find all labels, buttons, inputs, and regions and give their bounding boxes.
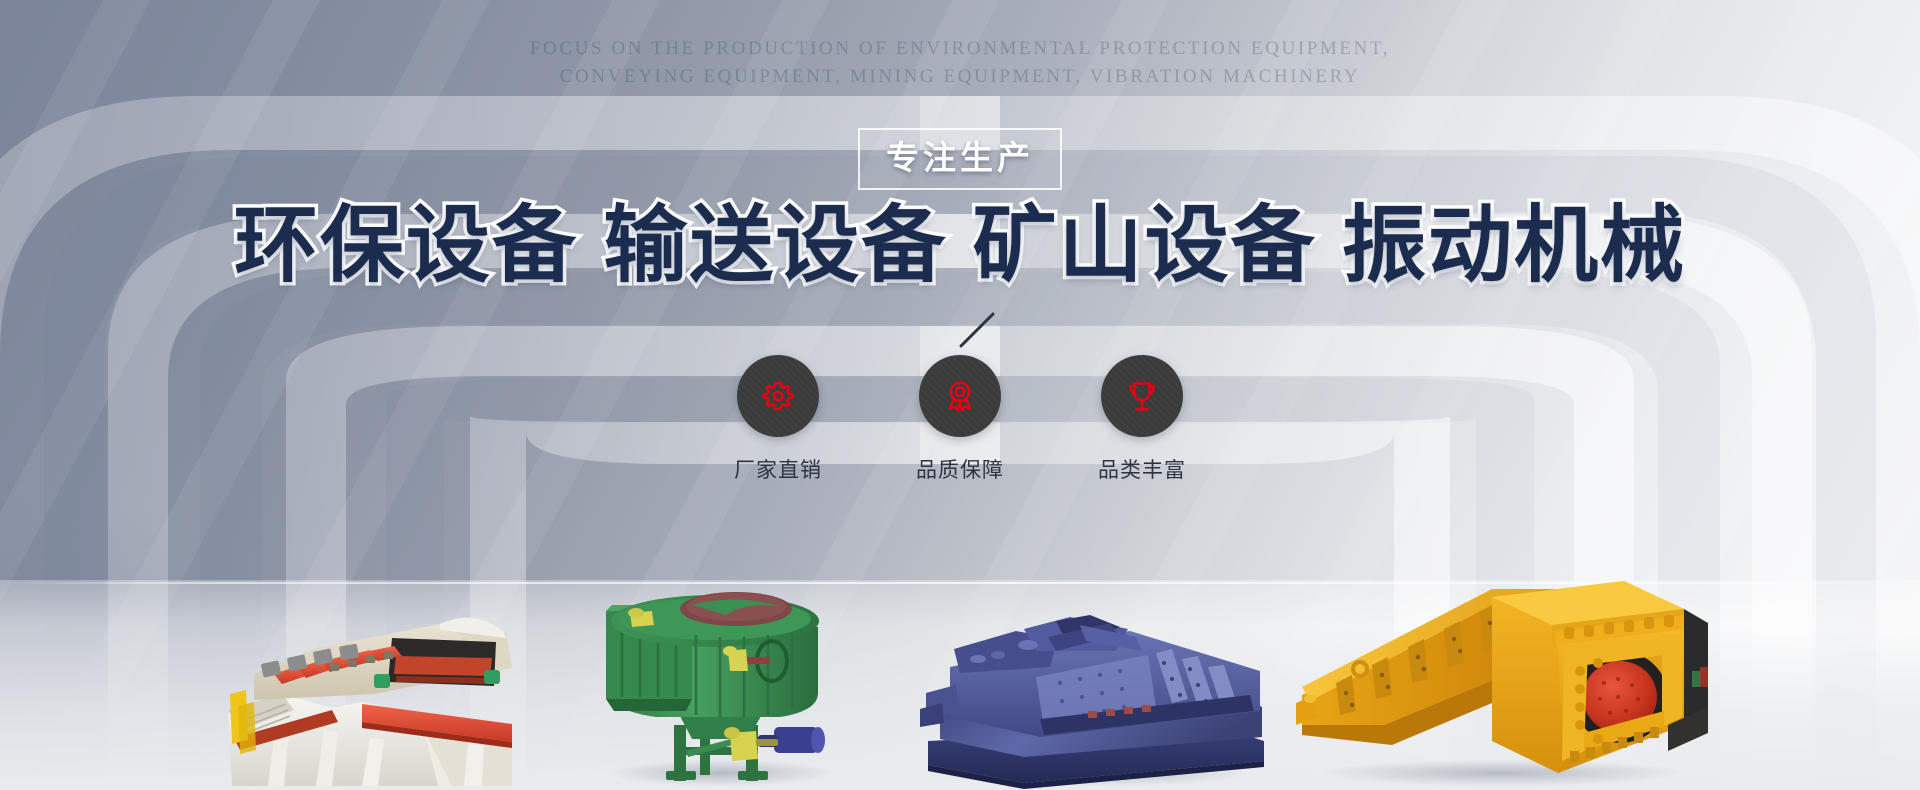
feature-icon-circle: [1101, 355, 1183, 437]
machine-blue-vibrating-screen: [920, 615, 1270, 790]
hero-banner: FOCUS ON THE PRODUCTION OF ENVIRONMENTAL…: [0, 0, 1920, 790]
eyebrow-text: FOCUS ON THE PRODUCTION OF ENVIRONMENTAL…: [0, 35, 1920, 91]
slash-decoration-icon: [955, 308, 999, 352]
machine-yellow-feeder-crusher: [1296, 575, 1708, 790]
medal-icon: [940, 376, 980, 416]
gear-icon: [758, 376, 798, 416]
screening-machine-illustration: [212, 590, 534, 790]
machine-gallery: [0, 460, 1920, 790]
machine-screening-machine: [212, 590, 534, 790]
green-mixer-illustration: [596, 575, 846, 790]
trophy-icon: [1122, 376, 1162, 416]
feature-icon-circle: [737, 355, 819, 437]
blue-vibrating-screen-illustration: [920, 615, 1270, 790]
feature-icon-circle: [919, 355, 1001, 437]
yellow-feeder-crusher-illustration: [1296, 575, 1708, 790]
focus-badge: 专注生产: [858, 128, 1062, 190]
badge-row: 专注生产: [0, 128, 1920, 190]
page-title: 环保设备 输送设备 矿山设备 振动机械: [0, 196, 1920, 295]
machine-green-mixer: [596, 575, 846, 790]
